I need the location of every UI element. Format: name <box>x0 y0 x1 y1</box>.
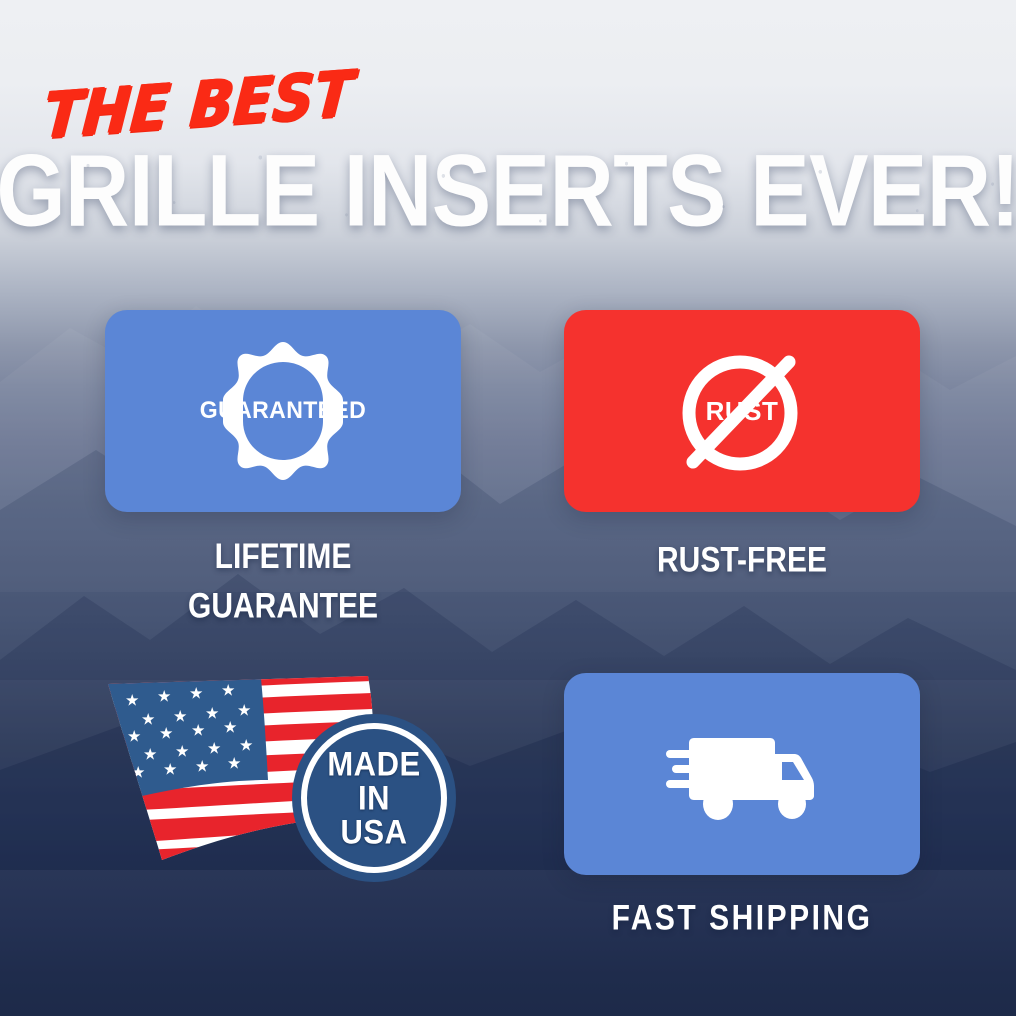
fast-shipping-caption: FAST SHIPPING <box>564 894 920 944</box>
guaranteed-badge-icon: GUARANTEED <box>208 336 358 486</box>
lifetime-guarantee-caption: LIFETIME GUARANTEE <box>105 532 461 631</box>
delivery-truck-icon <box>666 722 818 826</box>
feature-grid: GUARANTEED LIFETIME GUARANTEE RUST RUST-… <box>0 0 1016 1016</box>
rust-label: RUST <box>706 396 779 427</box>
rust-free-tile[interactable]: RUST <box>564 310 920 512</box>
made-in-usa-text: MADE IN USA <box>327 747 420 849</box>
guaranteed-badge-text: GUARANTEED <box>200 397 366 425</box>
made-in-usa-seal: MADE IN USA <box>288 712 460 884</box>
fast-shipping-tile[interactable] <box>564 673 920 875</box>
lifetime-guarantee-tile[interactable]: GUARANTEED <box>105 310 461 512</box>
promo-graphic: THE BEST GRILLE INSERTS EVER! GUARANTEED… <box>0 0 1016 1016</box>
rust-free-caption: RUST-FREE <box>564 536 920 586</box>
no-rust-icon: RUST <box>663 336 821 486</box>
